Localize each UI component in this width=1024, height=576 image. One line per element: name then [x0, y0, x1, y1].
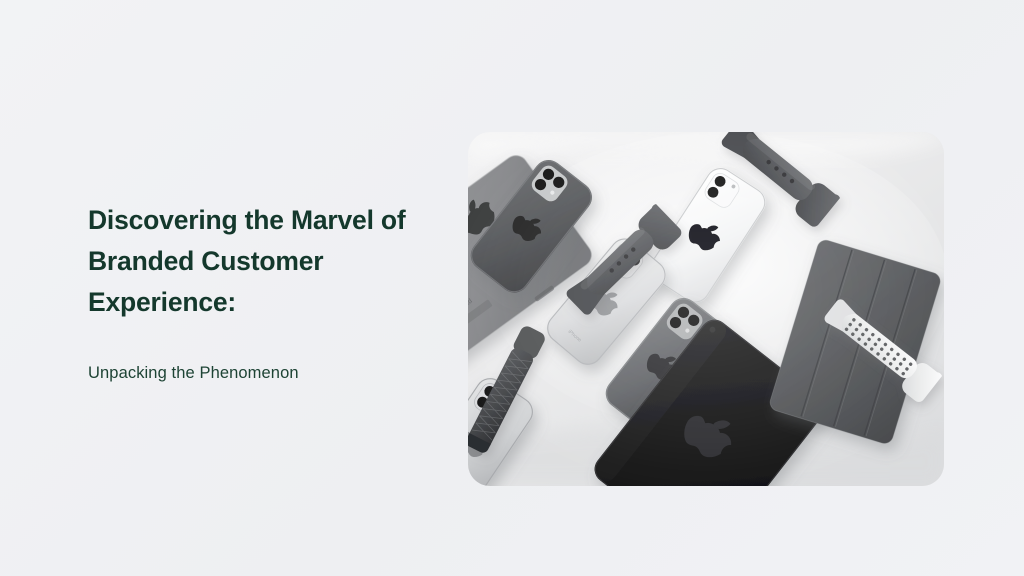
page-subtitle: Unpacking the Phenomenon — [88, 323, 438, 385]
hero-photo-illustration: iPad — [468, 132, 944, 486]
slide-canvas: Discovering the Marvel of Branded Custom… — [0, 0, 1024, 576]
hero-photo: iPad — [468, 132, 944, 486]
page-title: Discovering the Marvel of Branded Custom… — [88, 200, 438, 323]
text-block: Discovering the Marvel of Branded Custom… — [88, 200, 438, 385]
